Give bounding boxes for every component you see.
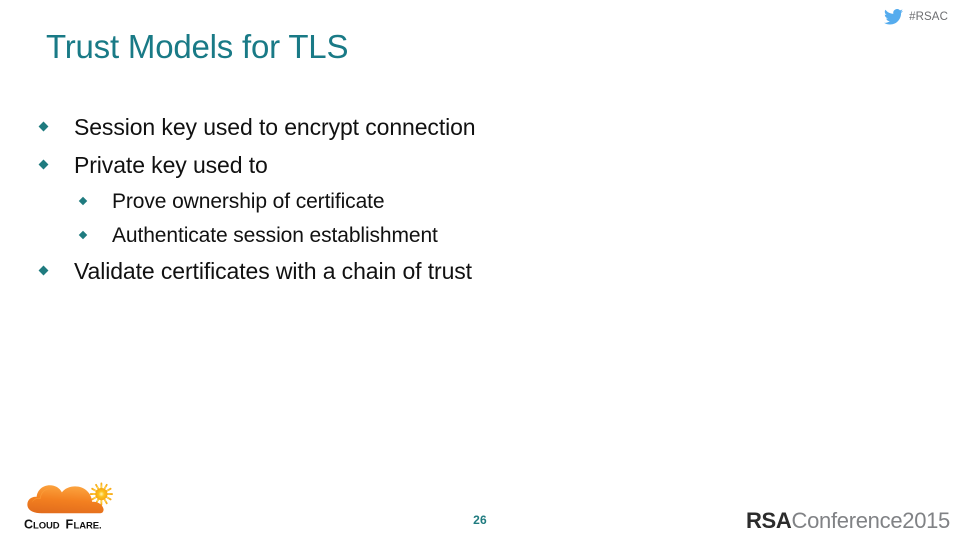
diamond-bullet-icon [39, 160, 49, 170]
svg-text:LOUD: LOUD [33, 521, 60, 532]
bullet-list: Session key used to encrypt connection P… [40, 112, 870, 294]
page-number: 26 [0, 513, 960, 527]
list-item: Prove ownership of certificate [40, 188, 870, 216]
diamond-bullet-icon [39, 266, 49, 276]
list-item: Private key used to [40, 150, 870, 180]
svg-text:LARE.: LARE. [74, 521, 102, 532]
list-item: Session key used to encrypt connection [40, 112, 870, 142]
slide-canvas: #RSAC Trust Models for TLS Session key u… [0, 0, 960, 540]
list-item-label: Session key used to encrypt connection [74, 112, 476, 142]
hashtag-bar: #RSAC [884, 9, 948, 25]
list-item-label: Prove ownership of certificate [112, 188, 384, 216]
list-item-label: Authenticate session establishment [112, 222, 438, 250]
cloudflare-wordmark: C LOUD F LARE. [24, 517, 142, 532]
cloudflare-logo: C LOUD F LARE. [24, 482, 144, 532]
list-item-label: Validate certificates with a chain of tr… [74, 256, 472, 286]
page-title: Trust Models for TLS [46, 27, 348, 67]
hashtag-label: #RSAC [909, 11, 948, 23]
list-item: Validate certificates with a chain of tr… [40, 256, 870, 286]
diamond-bullet-icon [79, 197, 87, 205]
list-item-label: Private key used to [74, 150, 268, 180]
cloudflare-cloud-icon [24, 482, 136, 516]
twitter-bird-icon [884, 9, 903, 25]
diamond-bullet-icon [39, 122, 49, 132]
list-item: Authenticate session establishment [40, 222, 870, 250]
svg-text:F: F [66, 518, 74, 532]
diamond-bullet-icon [79, 231, 87, 239]
svg-text:C: C [24, 518, 33, 532]
